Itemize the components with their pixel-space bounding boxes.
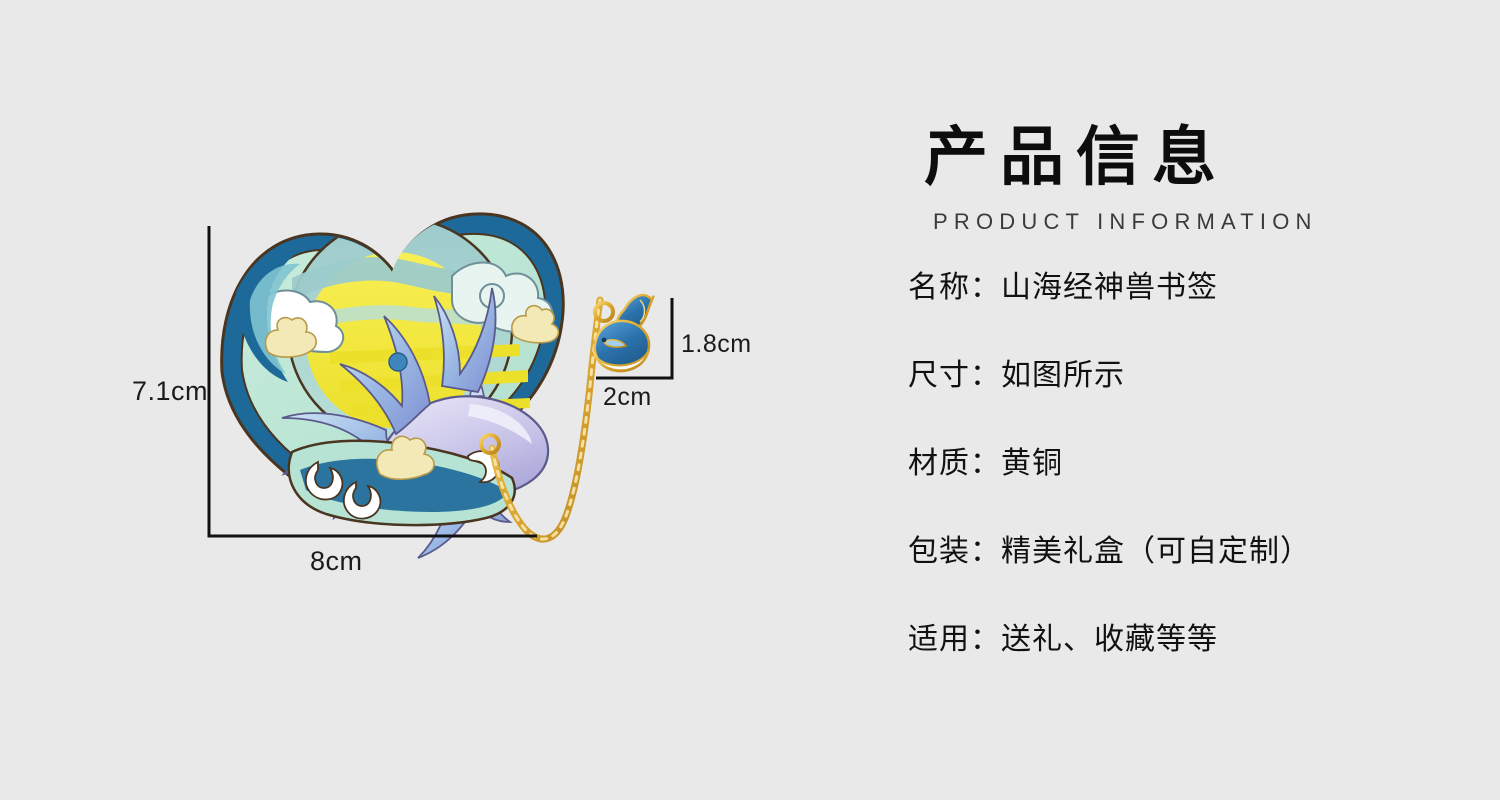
spec-row-size: 尺寸：如图所示 xyxy=(908,350,1498,438)
bookmark-height-label: 7.1cm xyxy=(132,376,208,407)
whale-charm xyxy=(594,295,653,371)
spec-row-packaging: 包装：精美礼盒（可自定制） xyxy=(908,526,1498,614)
product-spec-list: 名称：山海经神兽书签 尺寸：如图所示 材质：黄铜 包装：精美礼盒（可自定制） 适… xyxy=(908,262,1498,702)
page-title: 产品信息 xyxy=(924,126,1228,190)
product-photo xyxy=(0,0,820,800)
spec-text-packaging: 包装：精美礼盒（可自定制） xyxy=(908,526,1311,570)
spec-row-name: 名称：山海经神兽书签 xyxy=(908,262,1498,350)
spec-text-usage: 适用：送礼、收藏等等 xyxy=(908,614,1218,658)
spec-row-usage: 适用：送礼、收藏等等 xyxy=(908,614,1498,702)
spec-row-material: 材质：黄铜 xyxy=(908,438,1498,526)
bookmark-width-label: 8cm xyxy=(310,546,363,577)
spec-text-name: 名称：山海经神兽书签 xyxy=(908,262,1218,306)
spec-text-material: 材质：黄铜 xyxy=(908,438,1063,482)
product-information-panel: 产品信息 PRODUCT INFORMATION 名称：山海经神兽书签 尺寸：如… xyxy=(900,0,1500,800)
spec-text-size: 尺寸：如图所示 xyxy=(908,350,1125,394)
page-subtitle: PRODUCT INFORMATION xyxy=(933,209,1318,235)
charm-height-label: 1.8cm xyxy=(681,330,752,359)
page-canvas: 7.1cm 8cm 1.8cm 2cm 产品信息 PRODUCT INFORMA… xyxy=(0,0,1500,800)
product-image-panel: 7.1cm 8cm 1.8cm 2cm xyxy=(0,0,820,800)
charm-width-label: 2cm xyxy=(603,383,652,412)
